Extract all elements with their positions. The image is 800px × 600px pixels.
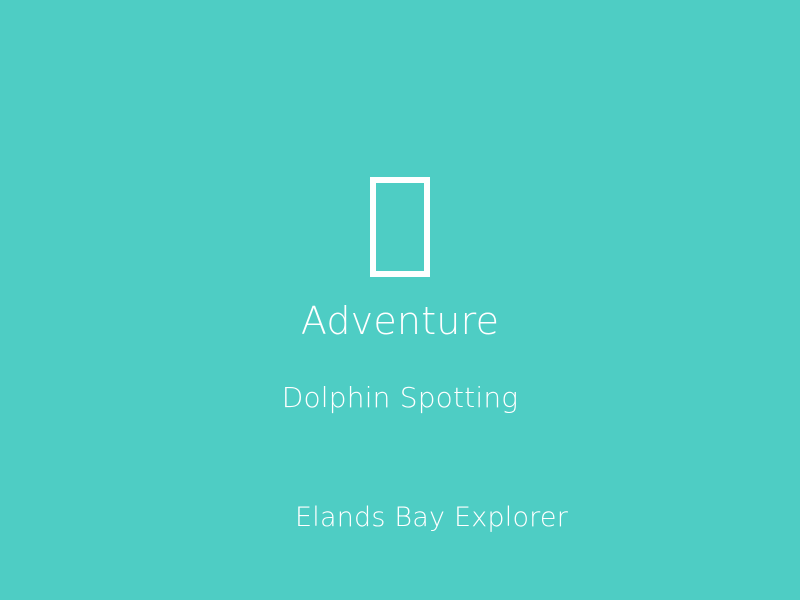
category-title: Adventure <box>0 298 800 344</box>
operator-caption: Elands Bay Explorer <box>0 501 800 535</box>
adventure-card: Adventure Dolphin Spotting Elands Bay Ex… <box>0 0 800 600</box>
category-icon-slot <box>0 177 800 277</box>
missing-glyph-tofu-icon <box>370 177 430 277</box>
activity-subtitle: Dolphin Spotting <box>0 381 800 415</box>
